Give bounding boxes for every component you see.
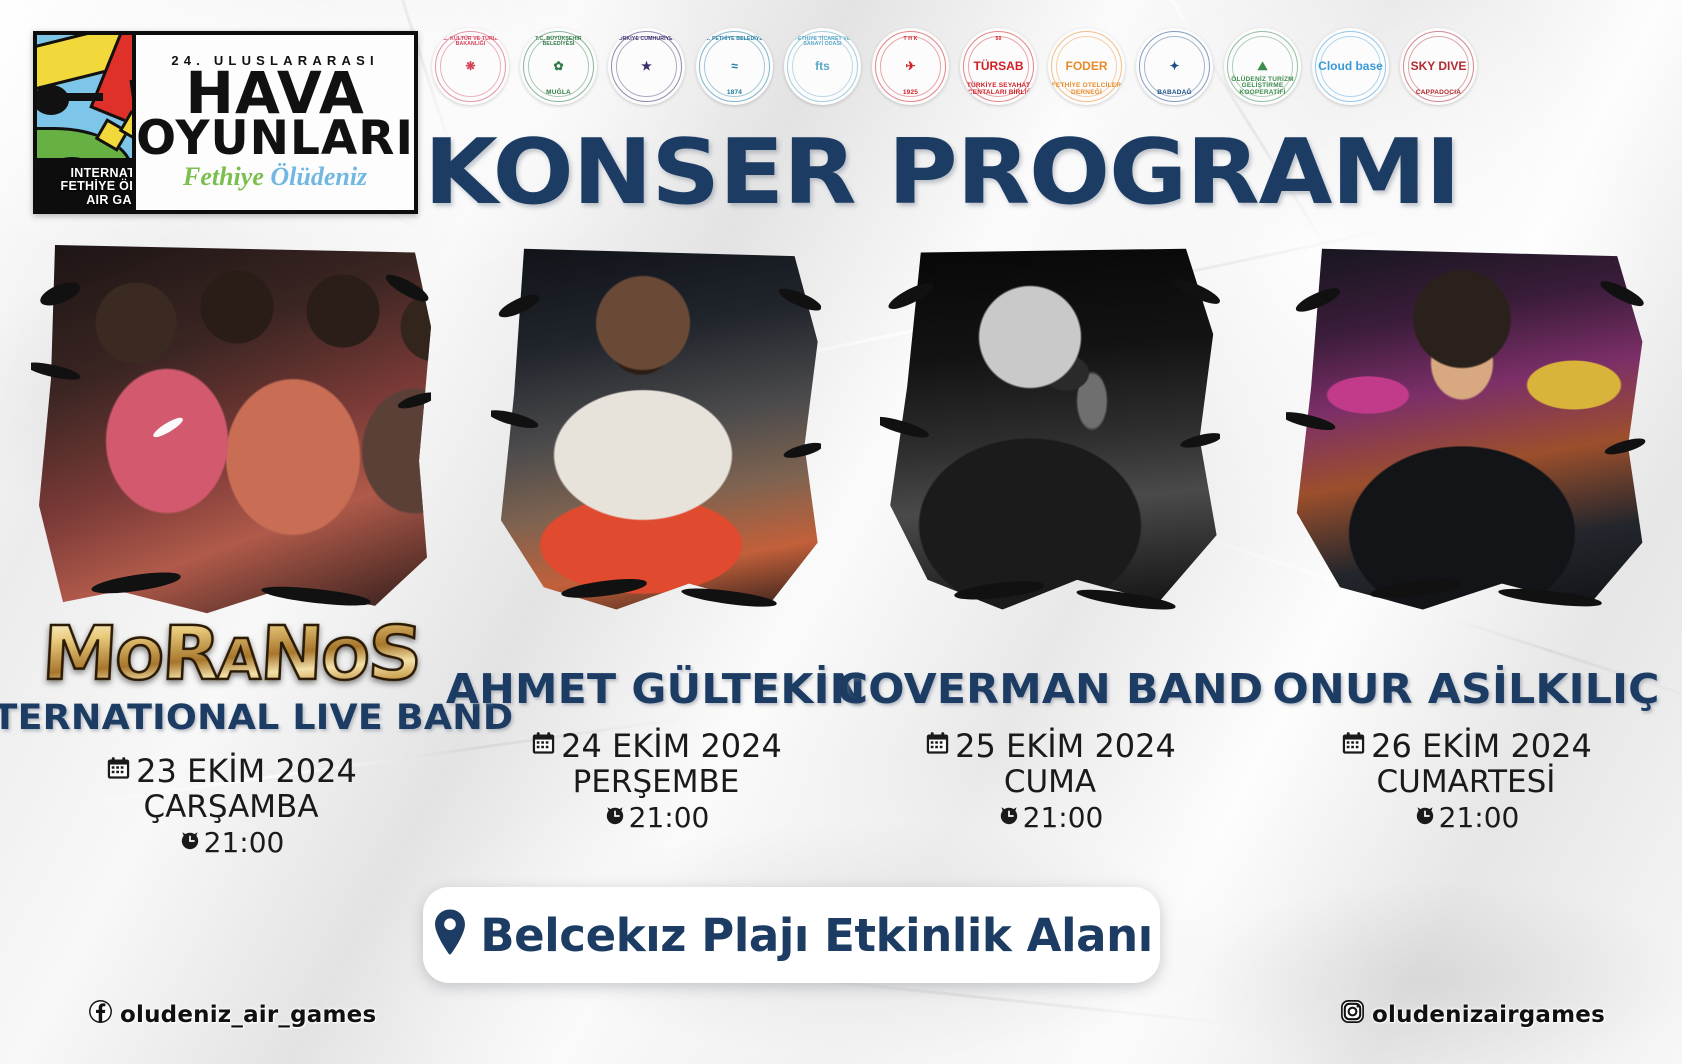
sponsor-logo-skydive-cappadocia[interactable]: SKY DIVECAPPADOCIA — [1400, 28, 1477, 105]
sponsor-label: ÖLÜDENİZ TURİZM GELİŞTİRME KOOPERATİFİ — [1224, 77, 1301, 97]
concert-date-row-3: 25 EKİM 2024 — [924, 727, 1176, 765]
event-logo: INTERNATIONAL FETHİYE ÖLÜDENİZ AIR GAMES… — [33, 31, 418, 214]
sponsor-mark: Cloud base — [1318, 60, 1383, 73]
sponsor-logo-cloudbase[interactable]: Cloud base — [1312, 28, 1389, 105]
concert-time-4: 21:00 — [1439, 801, 1520, 834]
venue-banner[interactable]: Belcekız Plajı Etkinlik Alanı — [423, 887, 1160, 983]
concert-day-2: PERŞEMBE — [573, 765, 740, 799]
sponsor-logo-oludeniz-turizm-gelistirme-kooperatifi[interactable]: ⛰ÖLÜDENİZ TURİZM GELİŞTİRME KOOPERATİFİ — [1224, 28, 1301, 105]
sponsor-label: 1925 — [872, 90, 949, 97]
sponsor-mark: ⛰ — [1257, 60, 1267, 73]
sponsor-top-text: T.C. KÜLTÜR VE TURİZM BAKANLIĞI — [432, 37, 509, 48]
sponsor-label: CAPPADOCIA — [1400, 90, 1477, 97]
sponsor-mark: ✿ — [553, 60, 563, 73]
sponsor-logo-thk-turk-hava-kurumu[interactable]: T H K✈1925 — [872, 28, 949, 105]
sponsor-logo-fethiye-ticaret-sanayi-odasi[interactable]: FETHİYE TİCARET VE SANAYİ ODASIfts — [784, 28, 861, 105]
logo-caption-line-2: FETHİYE ÖLÜDENİZ — [37, 180, 132, 194]
instagram-handle[interactable]: oludenizairgames — [1340, 999, 1605, 1030]
concert-card-onur-asilkilic[interactable]: ONUR ASİLKILIÇ 26 EKİM 2024 CUMARTESİ 21… — [1250, 245, 1682, 885]
sponsor-mark: ★ — [641, 60, 652, 73]
sponsor-top-text: T.C. FETHİYE BELEDİYESİ — [696, 37, 773, 42]
kite-logo-icon: INTERNATIONAL FETHİYE ÖLÜDENİZ AIR GAMES — [37, 35, 132, 210]
sponsor-label: 1874 — [696, 90, 773, 97]
concert-card-coverman-band[interactable]: COVERMAN BAND 25 EKİM 2024 CUMA 21:00 — [850, 245, 1250, 885]
sponsor-label: BABADAĞ — [1136, 90, 1213, 97]
concert-date-2: 24 EKİM 2024 — [561, 727, 782, 765]
sponsor-mark: FODER — [1066, 60, 1108, 73]
sponsor-mark: ≈ — [731, 60, 738, 73]
sponsor-top-text: T.C. BÜYÜKŞEHİR BELEDİYESİ — [520, 37, 597, 48]
sponsor-top-text: T H K — [872, 37, 949, 42]
sponsor-mark: ✦ — [1169, 60, 1179, 73]
concert-date-row-2: 24 EKİM 2024 — [530, 727, 782, 765]
wordmark-oyunlari: OYUNLARI — [136, 119, 414, 160]
concert-card-moranos[interactable]: MORANOS INTERNATIONAL LIVE BAND 23 EKİM … — [0, 245, 462, 885]
logo-caption-line-3: AIR GAMES — [37, 194, 132, 208]
event-logo-caption: INTERNATIONAL FETHİYE ÖLÜDENİZ AIR GAMES — [37, 167, 132, 208]
artist-name-coverman-band: COVERMAN BAND — [837, 665, 1264, 713]
moranos-letter-a: A — [216, 628, 262, 693]
wordmark-script-fethiye: Fethiye — [183, 162, 264, 191]
concert-time-row-4: 21:00 — [1413, 801, 1520, 834]
singer-with-microphone-bw-photo — [850, 245, 1250, 617]
sponsor-logo-babadag[interactable]: ✦BABADAĞ — [1136, 28, 1213, 105]
concert-date-4: 26 EKİM 2024 — [1371, 727, 1592, 765]
alarm-clock-icon — [1413, 801, 1437, 834]
venue-name: Belcekız Plajı Etkinlik Alanı — [480, 909, 1153, 962]
concert-time-row-3: 21:00 — [997, 801, 1104, 834]
sponsor-top-text: FETHİYE TİCARET VE SANAYİ ODASI — [784, 37, 861, 48]
alarm-clock-icon — [178, 826, 202, 859]
curly-hair-singer-photo — [1250, 245, 1682, 617]
concert-card-ahmet-gultekin[interactable]: AHMET GÜLTEKİN 24 EKİM 2024 PERŞEMBE 21:… — [462, 245, 850, 885]
calendar-icon — [105, 752, 132, 790]
concert-time-row-1: 21:00 — [178, 826, 285, 859]
wordmark-script-oludeniz: Ölüdeniz — [270, 162, 367, 191]
guitarist-singing-photo — [462, 245, 850, 617]
sponsor-mark: ✈ — [905, 60, 915, 73]
moranos-letter-n: N — [258, 611, 324, 697]
sponsor-label: MUĞLA — [520, 90, 597, 97]
artist-name-onur-asilkilic: ONUR ASİLKILIÇ — [1272, 665, 1659, 713]
concert-date-3: 25 EKİM 2024 — [955, 727, 1176, 765]
concert-time-3: 21:00 — [1023, 801, 1104, 834]
concert-date-row-4: 26 EKİM 2024 — [1340, 727, 1592, 765]
sponsor-mark: TÜRSAB — [974, 60, 1024, 73]
sponsor-top-text: 50 — [960, 37, 1037, 42]
sponsor-logo-mugla-buyuksehir-belediyesi[interactable]: T.C. BÜYÜKŞEHİR BELEDİYESİ✿MUĞLA — [520, 28, 597, 105]
concert-date-row-1: 23 EKİM 2024 — [105, 752, 357, 790]
page-title: KONSER PROGRAMI — [424, 129, 1460, 217]
alarm-clock-icon — [603, 801, 627, 834]
calendar-icon — [530, 727, 557, 765]
concert-time-1: 21:00 — [204, 826, 285, 859]
instagram-icon — [1340, 999, 1365, 1030]
concert-day-4: CUMARTESİ — [1377, 765, 1556, 799]
concert-lineup: MORANOS INTERNATIONAL LIVE BAND 23 EKİM … — [0, 245, 1682, 885]
poster-header: INTERNATIONAL FETHİYE ÖLÜDENİZ AIR GAMES… — [0, 0, 1682, 232]
artist-name-ahmet-gultekin: AHMET GÜLTEKİN — [446, 665, 866, 713]
calendar-icon — [1340, 727, 1367, 765]
facebook-icon — [88, 999, 113, 1030]
moranos-letter-o2: O — [319, 628, 369, 693]
logo-caption-line-1: INTERNATIONAL — [37, 167, 132, 181]
moranos-letter-r: R — [160, 611, 221, 697]
sponsor-top-text: TÜRKİYE CUMHURİYETİ — [608, 37, 685, 42]
band-group-photo — [0, 245, 462, 617]
sponsor-logo-foder[interactable]: FODERFETHİYE OTELCİLER DERNEĞİ — [1048, 28, 1125, 105]
sponsor-logo-tursab[interactable]: 50TÜRSABTÜRKİYE SEYAHAT ACENTALARI BİRLİ… — [960, 28, 1037, 105]
calendar-icon — [924, 727, 951, 765]
location-pin-icon — [430, 907, 470, 964]
sponsor-logo-fethiye-belediyesi[interactable]: T.C. FETHİYE BELEDİYESİ≈1874 — [696, 28, 773, 105]
sponsor-mark: fts — [815, 60, 830, 73]
moranos-wordmark-logo: MORANOS — [40, 617, 422, 698]
instagram-handle-text: oludenizairgames — [1372, 1002, 1605, 1028]
sponsor-logos: T.C. KÜLTÜR VE TURİZM BAKANLIĞI❋T.C. BÜY… — [432, 28, 1477, 105]
sponsor-logo-turkiye-cumhuriyeti-ataturk[interactable]: TÜRKİYE CUMHURİYETİ★ — [608, 28, 685, 105]
poster-canvas: INTERNATIONAL FETHİYE ÖLÜDENİZ AIR GAMES… — [0, 0, 1682, 1064]
concert-date-1: 23 EKİM 2024 — [136, 752, 357, 790]
facebook-handle-text: oludeniz_air_games — [120, 1002, 376, 1028]
moranos-letter-m: M — [40, 611, 118, 697]
concert-day-1: ÇARŞAMBA — [143, 790, 318, 824]
concert-day-3: CUMA — [1004, 765, 1096, 799]
artist-subtitle-moranos: INTERNATIONAL LIVE BAND — [0, 698, 514, 738]
sponsor-label: FETHİYE OTELCİLER DERNEĞİ — [1048, 83, 1125, 97]
sponsor-mark: ❋ — [465, 60, 475, 73]
sponsor-mark: SKY DIVE — [1411, 60, 1467, 73]
sponsor-logo-tc-kultur-turizm-bakanligi[interactable]: T.C. KÜLTÜR VE TURİZM BAKANLIĞI❋ — [432, 28, 509, 105]
wordmark-script: Fethiye Ölüdeniz — [183, 162, 367, 192]
paper-shade — [1180, 880, 1682, 1064]
moranos-letter-s: S — [365, 611, 422, 697]
moranos-letter-o1: O — [113, 628, 163, 693]
sponsor-label: TÜRKİYE SEYAHAT ACENTALARI BİRLİĞİ — [960, 83, 1037, 97]
concert-time-row-2: 21:00 — [603, 801, 710, 834]
facebook-handle[interactable]: oludeniz_air_games — [88, 999, 376, 1030]
concert-time-2: 21:00 — [629, 801, 710, 834]
alarm-clock-icon — [997, 801, 1021, 834]
event-wordmark: 24. ULUSLARARASI HAVA OYUNLARI Fethiye Ö… — [136, 35, 414, 210]
